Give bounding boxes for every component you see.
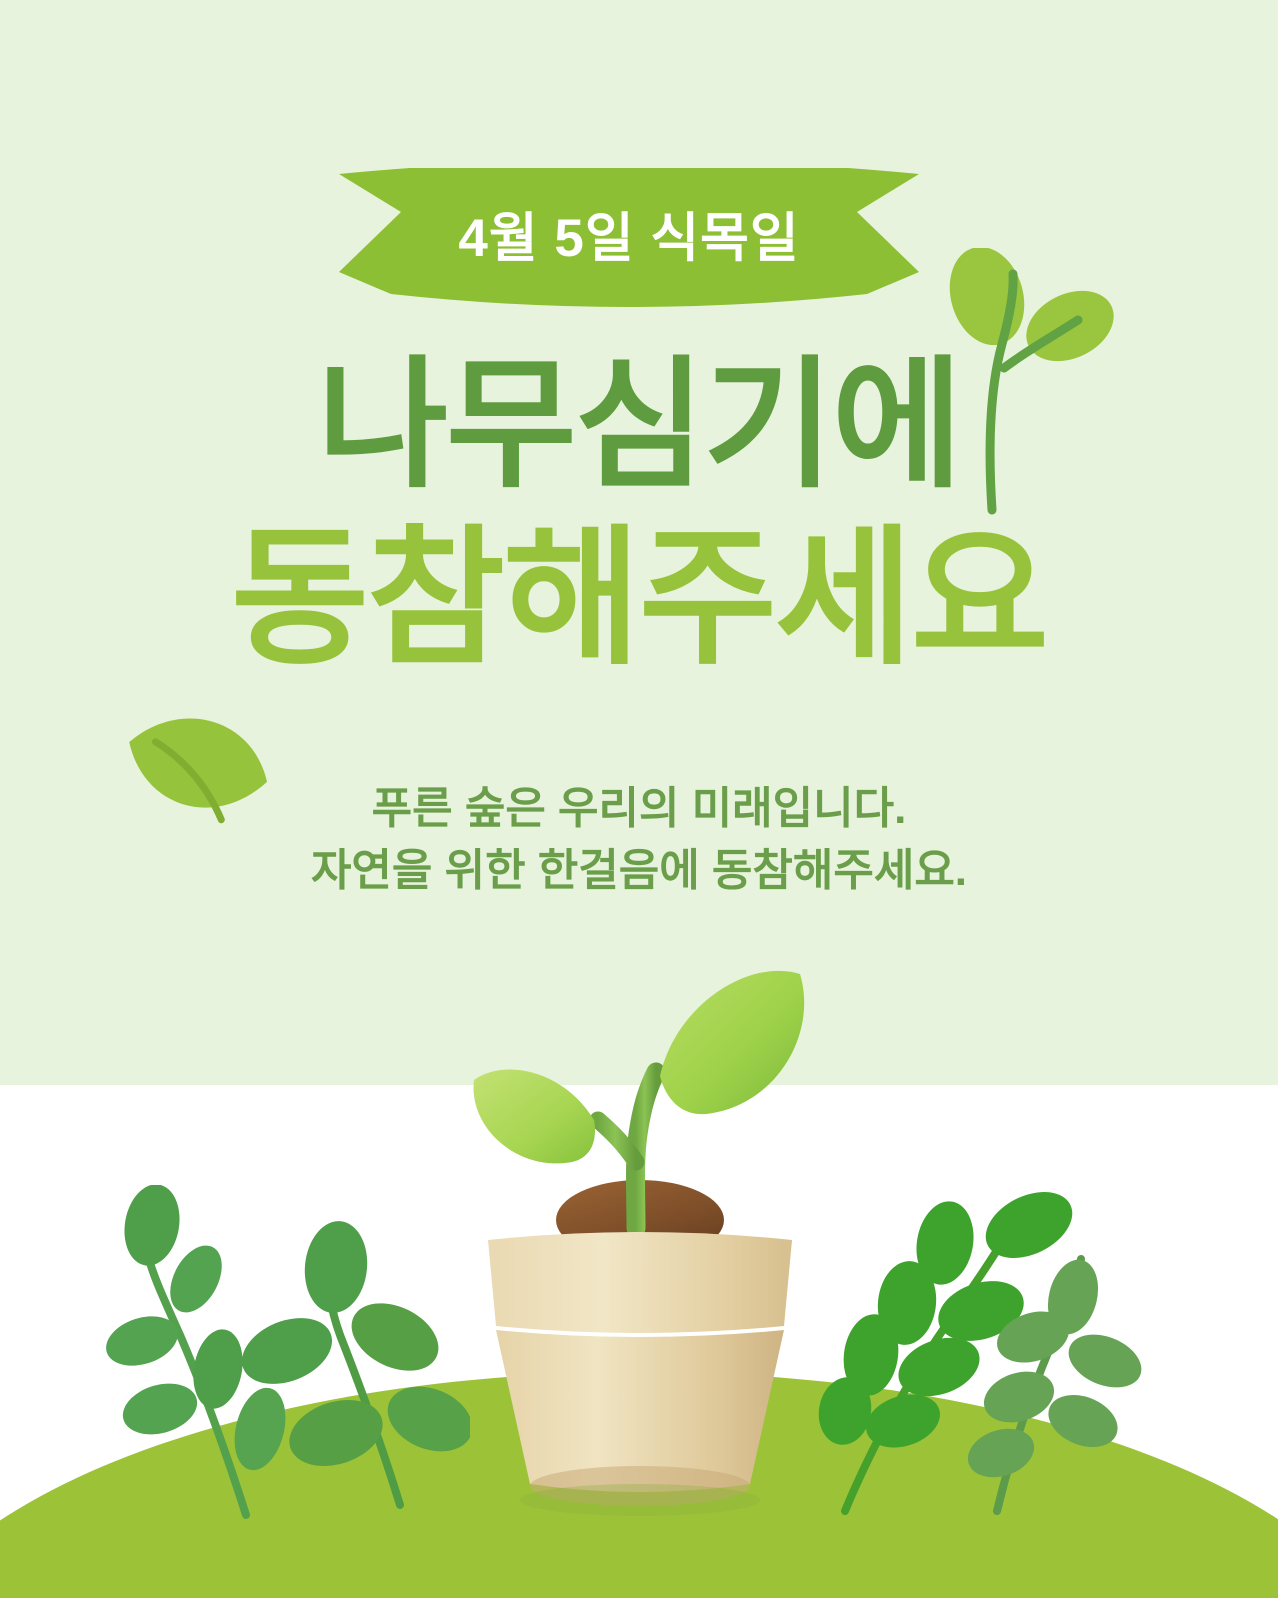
subtitle-line-1: 푸른 숲은 우리의 미래입니다. — [0, 778, 1278, 840]
subtitle: 푸른 숲은 우리의 미래입니다. 자연을 위한 한걸음에 동참해주세요. — [0, 778, 1278, 903]
headline-line-1: 나무심기에 — [0, 355, 1278, 497]
leafy-sprig-icon — [100, 1185, 470, 1525]
page-title: 나무심기에 동참해주세요 — [0, 355, 1278, 673]
ribbon-label: 4월 5일 식목일 — [339, 168, 919, 288]
subtitle-line-2: 자연을 위한 한걸음에 동참해주세요. — [0, 840, 1278, 902]
potted-sprout-icon — [438, 948, 842, 1518]
leafy-sprig-icon — [815, 1185, 1185, 1525]
arbor-day-poster: 4월 5일 식목일 나무심기에 동참해주세요 푸른 숲은 우리의 미래입니다. … — [0, 0, 1278, 1598]
ribbon-banner: 4월 5일 식목일 — [339, 168, 919, 308]
headline-line-2: 동참해주세요 — [0, 523, 1278, 673]
